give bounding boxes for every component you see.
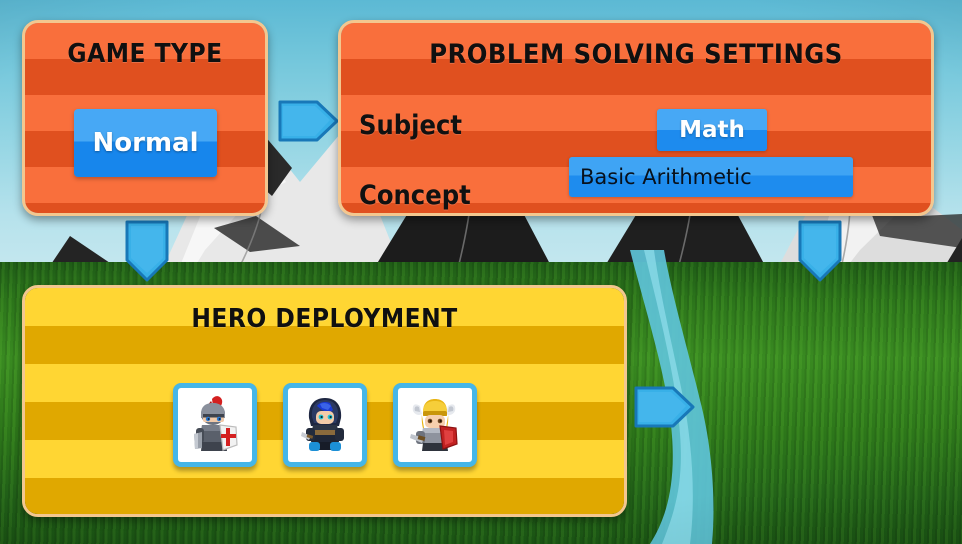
game-type-title: GAME TYPE [25, 39, 265, 69]
arrow-hero-to-find-icon [631, 378, 699, 436]
game-lobby-screen: GAME TYPE Normal PROBLEM SOLVING SETTING… [0, 0, 962, 544]
knight-icon [182, 392, 248, 458]
arrow-gametype-to-hero-icon [118, 218, 176, 286]
hero-slot-knight[interactable] [173, 383, 257, 467]
rogue-icon [292, 392, 358, 458]
hero-deployment-panel: HERO DEPLOYMENT [22, 285, 627, 517]
game-type-panel: GAME TYPE Normal [22, 20, 268, 216]
subject-row: Subject [359, 110, 462, 141]
hero-slot-list [25, 383, 624, 467]
concept-value-dropdown[interactable]: Basic Arithmetic [569, 157, 853, 197]
concept-row: Concept [359, 180, 471, 211]
hero-slot-rogue[interactable] [283, 383, 367, 467]
subject-label: Subject [359, 110, 462, 141]
concept-label: Concept [359, 180, 471, 211]
problem-solving-settings-panel: PROBLEM SOLVING SETTINGS Subject Math Co… [338, 20, 934, 216]
problem-solving-title: PROBLEM SOLVING SETTINGS [341, 39, 931, 70]
subject-value-button[interactable]: Math [657, 109, 767, 151]
game-mode-button[interactable]: Normal [74, 109, 217, 177]
valkyrie-icon [402, 392, 468, 458]
hero-slot-valkyrie[interactable] [393, 383, 477, 467]
arrow-settings-to-find-icon [791, 218, 849, 286]
hero-deployment-title: HERO DEPLOYMENT [25, 304, 624, 334]
arrow-gametype-to-settings-icon [275, 92, 343, 150]
